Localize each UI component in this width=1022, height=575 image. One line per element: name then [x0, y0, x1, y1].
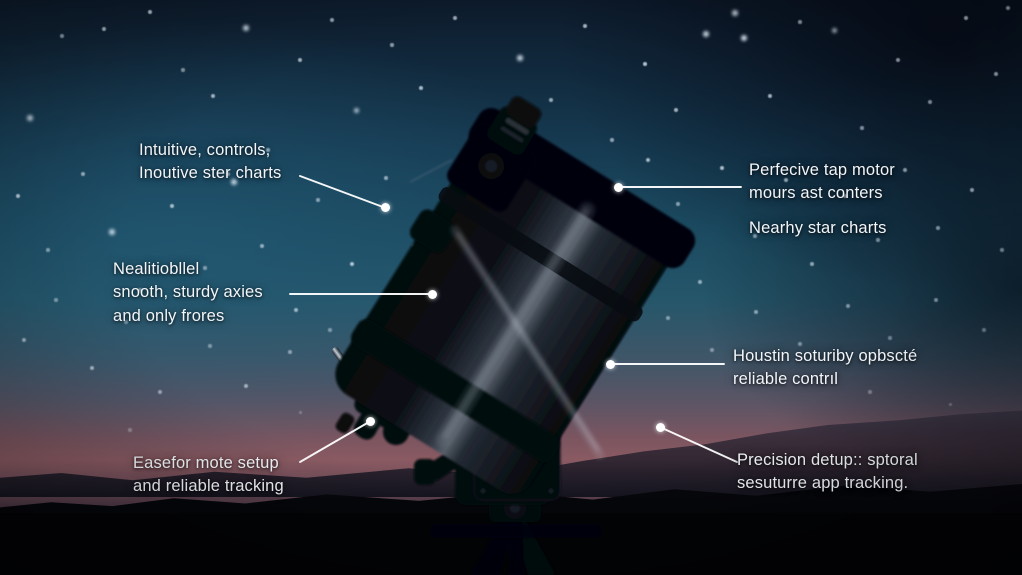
- callout-line: reliable contrıl: [733, 368, 917, 391]
- callout-line: and reliable tracking: [133, 475, 284, 498]
- callout-line: and only frores: [113, 305, 263, 328]
- callout-line: Perfecive tap motor: [749, 159, 895, 182]
- leader-line-precision-setup: [662, 428, 737, 462]
- callout-line: Nealitiobllel: [113, 258, 263, 281]
- callout-line: Easefor mote setup: [133, 452, 284, 475]
- callout-dot-easy-setup[interactable]: [366, 417, 375, 426]
- callout-line: Intuitive, controls,: [139, 139, 281, 162]
- callout-line: Houstin soturiby opbscté: [733, 345, 917, 368]
- leader-line-easy-setup: [300, 422, 369, 462]
- infographic-canvas: Intuitive, controls, Inoutive ster chart…: [0, 0, 1022, 575]
- callout-line: mours ast conters: [749, 182, 895, 205]
- callout-dot-precision-setup[interactable]: [656, 423, 665, 432]
- callout-dot-smooth-sturdy-axes[interactable]: [428, 290, 437, 299]
- callout-dot-intuitive-controls[interactable]: [381, 203, 390, 212]
- callout-line: Precision detup:: sptoral: [737, 449, 918, 472]
- callout-dot-tap-motor[interactable]: [614, 183, 623, 192]
- callout-line: Nearhy star charts: [749, 217, 887, 240]
- leader-line-intuitive-controls: [300, 176, 383, 207]
- callout-line: sesuturre app tracking.: [737, 472, 918, 495]
- callout-dot-reliable-control[interactable]: [606, 360, 615, 369]
- callout-line: Inoutive ster charts: [139, 162, 281, 185]
- callout-line: snooth, sturdy axies: [113, 281, 263, 304]
